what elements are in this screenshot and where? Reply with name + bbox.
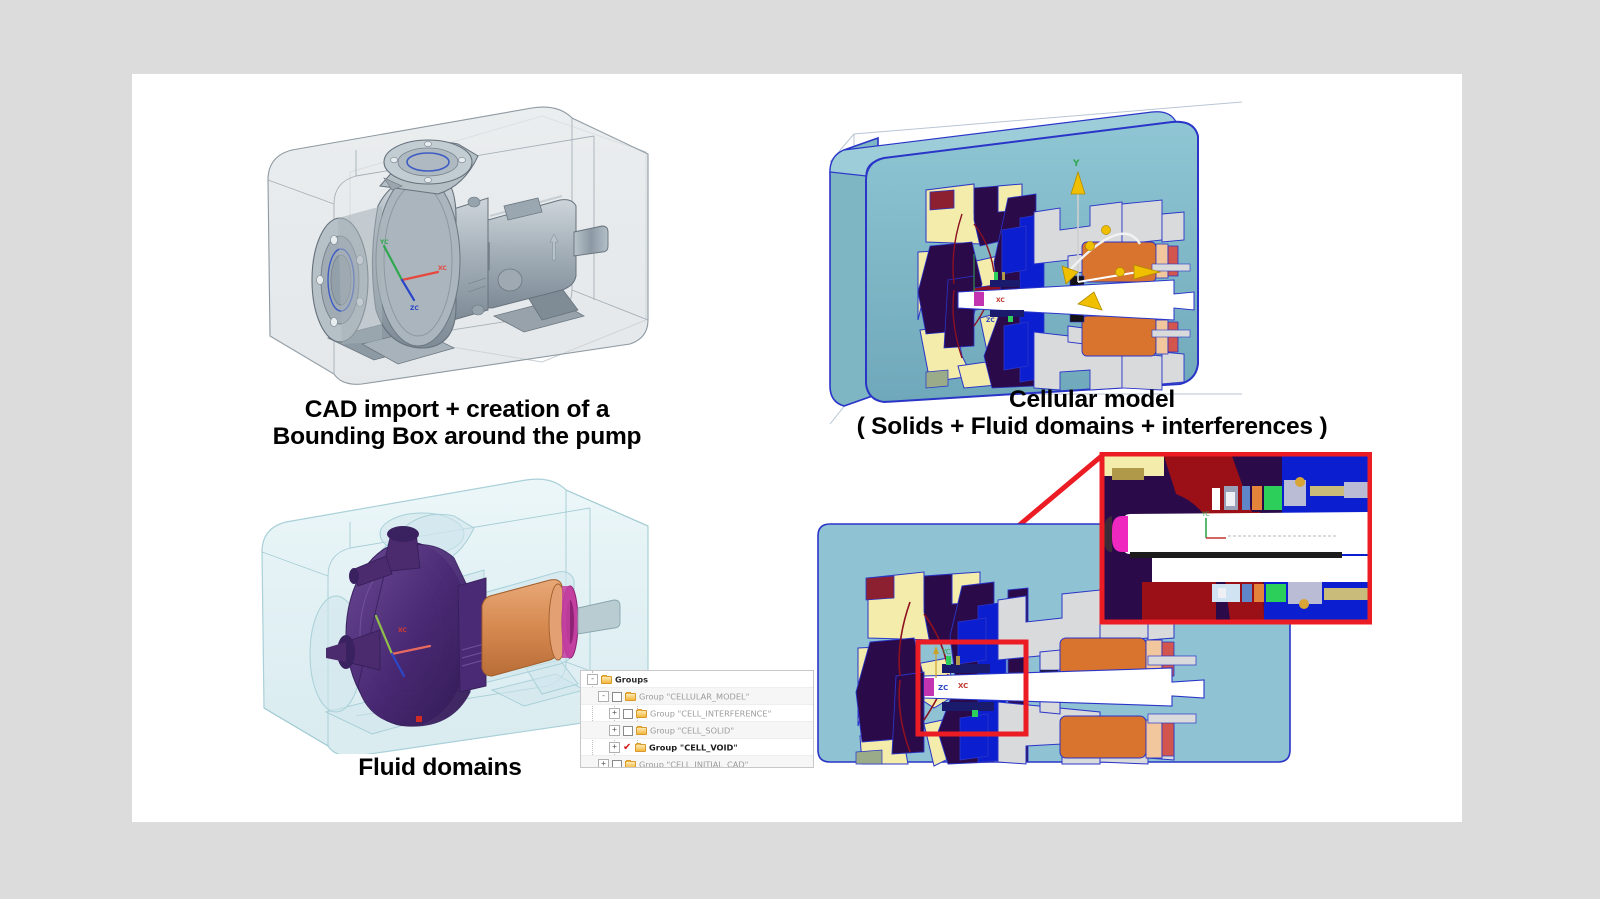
folder-icon bbox=[601, 675, 612, 684]
folder-icon bbox=[636, 726, 647, 735]
tree-item-label: Group "CELL_INTERFERENCE" bbox=[650, 709, 771, 719]
checkbox[interactable] bbox=[623, 726, 633, 736]
svg-text:YC: YC bbox=[1201, 511, 1210, 518]
svg-text:YC: YC bbox=[941, 648, 951, 656]
cad-bounding-box-figure: YC XC ZC bbox=[242, 94, 662, 394]
caption-cellular-model: Cellular model ( Solids + Fluid domains … bbox=[732, 386, 1452, 441]
expand-icon[interactable]: + bbox=[609, 742, 620, 753]
checkmark-icon[interactable]: ✔ bbox=[623, 743, 632, 752]
svg-text:ZC: ZC bbox=[938, 684, 948, 692]
tree-item-label: Group "CELL_VOID" bbox=[649, 743, 738, 753]
tree-row[interactable]: -Groups bbox=[581, 671, 813, 688]
tree-row[interactable]: +Group "CELL_INITIAL_CAD" bbox=[581, 756, 813, 768]
tree-row[interactable]: +✔Group "CELL_VOID" bbox=[581, 739, 813, 756]
folder-icon bbox=[625, 760, 636, 768]
axis-label-xc: XC bbox=[438, 265, 447, 272]
checkbox[interactable] bbox=[623, 709, 633, 719]
cellular-model-figure: XC ZC Y bbox=[822, 94, 1242, 424]
tree-row[interactable]: -Group "CELLULAR_MODEL" bbox=[581, 688, 813, 705]
axis-label-zc: ZC bbox=[410, 305, 419, 312]
caption-cad-line1: CAD import + creation of a bbox=[192, 396, 722, 423]
tree-row[interactable]: +Group "CELL_INTERFERENCE" bbox=[581, 705, 813, 722]
section-callout-figure: ZC XC YC bbox=[812, 452, 1372, 782]
folder-icon bbox=[625, 692, 636, 701]
collapse-icon[interactable]: - bbox=[598, 691, 609, 702]
slide-canvas: YC XC ZC CAD import + creation of a Boun… bbox=[132, 74, 1462, 822]
checkbox[interactable] bbox=[612, 692, 622, 702]
expand-icon[interactable]: + bbox=[598, 759, 609, 768]
caption-cellular-line1: Cellular model bbox=[732, 386, 1452, 413]
tree-row[interactable]: +Group "CELL_SOLID" bbox=[581, 722, 813, 739]
expand-icon[interactable]: + bbox=[609, 708, 620, 719]
caption-cad-line2: Bounding Box around the pump bbox=[192, 423, 722, 450]
checkbox[interactable] bbox=[612, 760, 622, 769]
tree-item-label: Group "CELL_SOLID" bbox=[650, 726, 734, 736]
svg-text:XC: XC bbox=[958, 682, 968, 690]
caption-cellular-line2: ( Solids + Fluid domains + interferences… bbox=[732, 413, 1452, 440]
groups-tree-panel[interactable]: -Groups-Group "CELLULAR_MODEL"+Group "CE… bbox=[580, 670, 814, 768]
axis-label-yc: YC bbox=[379, 239, 389, 246]
tree-item-label: Group "CELLULAR_MODEL" bbox=[639, 692, 749, 702]
folder-icon bbox=[636, 709, 647, 718]
svg-text:XC: XC bbox=[996, 297, 1005, 304]
expand-icon[interactable]: + bbox=[609, 725, 620, 736]
svg-text:Y: Y bbox=[1072, 159, 1080, 169]
caption-cad-import: CAD import + creation of a Bounding Box … bbox=[192, 396, 722, 451]
folder-icon bbox=[635, 743, 646, 752]
svg-text:XC: XC bbox=[398, 627, 407, 634]
tree-item-label: Group "CELL_INITIAL_CAD" bbox=[639, 760, 748, 769]
collapse-icon[interactable]: - bbox=[587, 674, 598, 685]
tree-item-label: Groups bbox=[615, 675, 648, 685]
svg-text:ZC: ZC bbox=[986, 317, 995, 324]
